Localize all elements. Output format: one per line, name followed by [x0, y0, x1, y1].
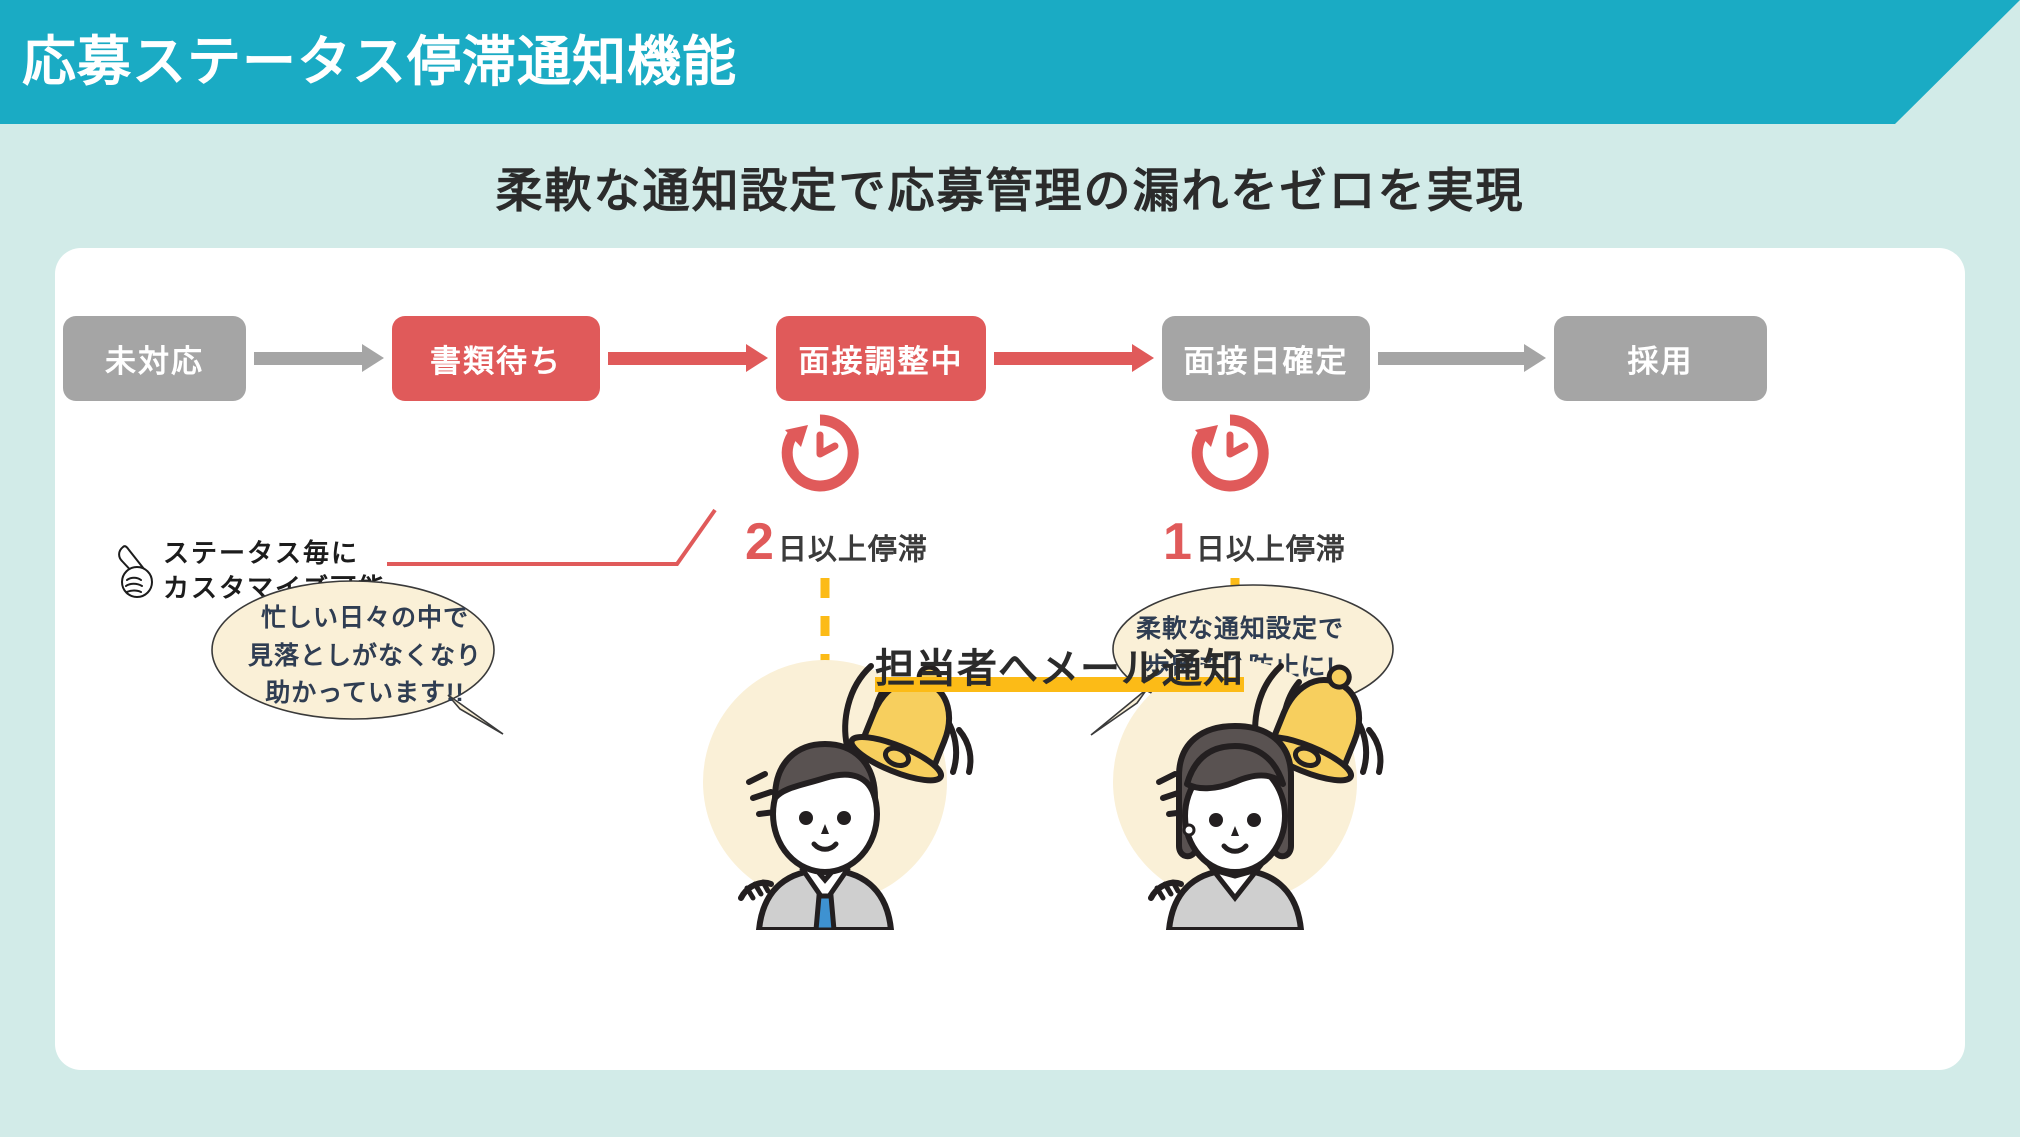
page-title: 応募ステータス停滞通知機能 [22, 8, 737, 116]
clock-refresh-icon [777, 410, 863, 496]
status-step-mensetsu-chousei[interactable]: 面接調整中 [776, 316, 986, 401]
clock-refresh-icon [1187, 410, 1273, 496]
subtitle: 柔軟な通知設定で応募管理の漏れをゼロを実現 [0, 152, 2020, 221]
stall-days-text: 日以上停滞 [778, 526, 928, 568]
status-step-saiyou[interactable]: 採用 [1554, 316, 1767, 401]
status-step-label: 面接日確定 [1184, 336, 1349, 381]
flow-arrow-2 [608, 352, 768, 365]
stall-alert-label-1: 2 日以上停滞 [745, 516, 928, 568]
status-step-label: 面接調整中 [799, 336, 964, 381]
stall-days-value: 2 [745, 516, 774, 568]
main-content-panel: 未対応 書類待ち 面接調整中 面接日確定 採用 [55, 248, 1965, 1070]
flow-arrow-3 [994, 352, 1154, 365]
customize-line-1: ステータス毎に [163, 536, 386, 571]
flow-arrow-1 [254, 352, 384, 365]
stall-days-value: 1 [1163, 516, 1192, 568]
status-step-label: 未対応 [105, 336, 204, 381]
status-step-label: 採用 [1628, 336, 1694, 381]
testimonial-text: 忙しい日々の中で 見落としがなくなり 助かっています!! [210, 600, 520, 713]
status-flow: 未対応 書類待ち 面接調整中 面接日確定 採用 [55, 316, 1965, 406]
stall-alert-label-2: 1 日以上停滞 [1163, 516, 1346, 568]
callout-leader-line [385, 496, 745, 586]
flow-arrow-4 [1378, 352, 1546, 365]
status-step-mensetsubi-kakutei[interactable]: 面接日確定 [1162, 316, 1370, 401]
email-banner-label: 担当者へメール通知 [875, 647, 1244, 691]
status-step-mitaiou[interactable]: 未対応 [63, 316, 246, 401]
pointing-hand-icon [113, 542, 159, 600]
testimonial-bubble-left: 忙しい日々の中で 見落としがなくなり 助かっています!! [210, 578, 520, 738]
status-step-shorui-machi[interactable]: 書類待ち [392, 316, 600, 401]
stall-days-text: 日以上停滞 [1196, 526, 1346, 568]
status-step-label: 書類待ち [430, 336, 562, 381]
